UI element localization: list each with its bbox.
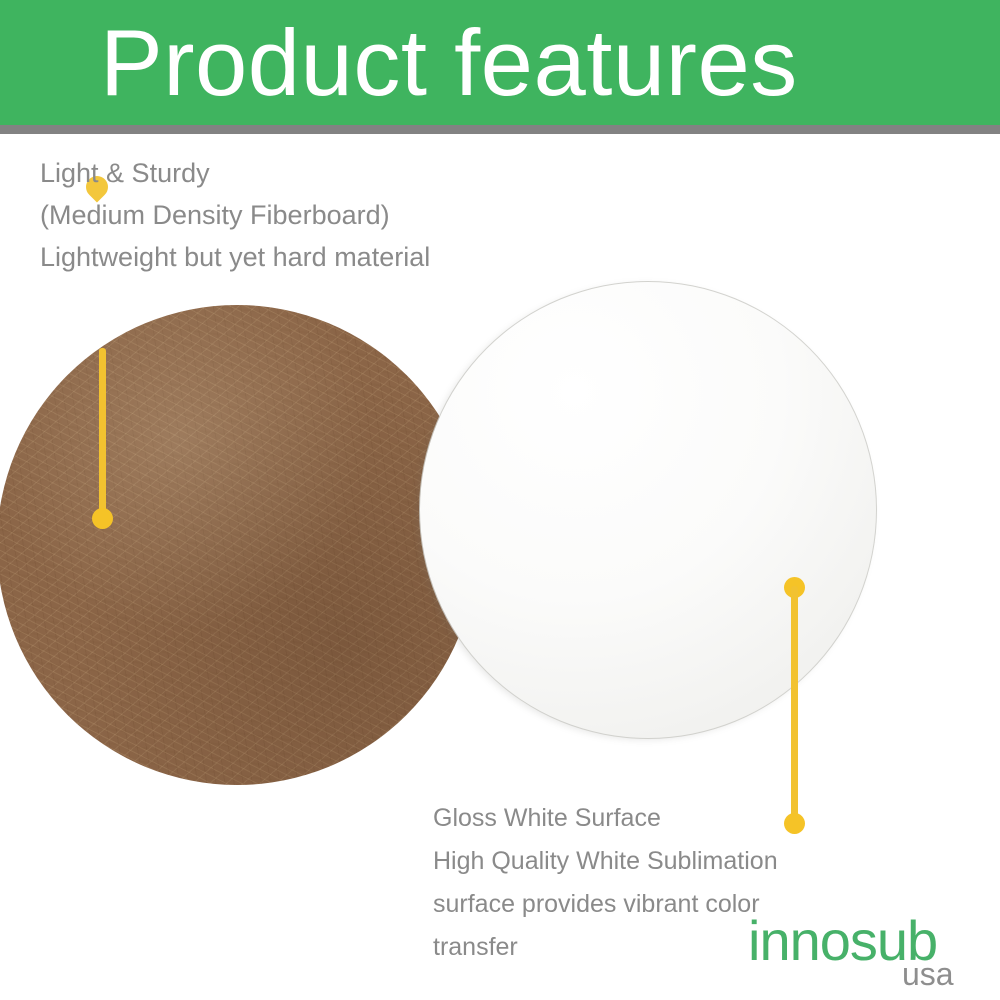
logo-region-text: usa xyxy=(902,957,954,991)
feature-mdf-line-1: Light & Sturdy xyxy=(40,152,430,194)
feature-callout-mdf: Light & Sturdy (Medium Density Fiberboar… xyxy=(40,152,430,278)
feature-mdf-line-3: Lightweight but yet hard material xyxy=(40,236,430,278)
callout-line-gloss xyxy=(791,586,798,826)
feature-mdf-line-2: (Medium Density Fiberboard) xyxy=(40,194,430,236)
feature-gloss-line-4: transfer xyxy=(433,926,778,969)
product-features-infographic: Product features Light & Sturdy (Medium … xyxy=(0,0,1000,1000)
mdf-disc-image xyxy=(0,305,477,785)
feature-gloss-line-1: Gloss White Surface xyxy=(433,797,778,840)
brand-logo: innosub usa xyxy=(748,912,978,992)
gloss-white-disc-image xyxy=(420,282,876,738)
feature-gloss-line-3: surface provides vibrant color xyxy=(433,883,778,926)
callout-line-mdf xyxy=(99,348,106,520)
feature-callout-gloss: Gloss White Surface High Quality White S… xyxy=(433,797,778,969)
callout-dot-mdf xyxy=(92,508,113,529)
callout-dot-gloss-bottom xyxy=(784,813,805,834)
feature-gloss-line-2: High Quality White Sublimation xyxy=(433,840,778,883)
